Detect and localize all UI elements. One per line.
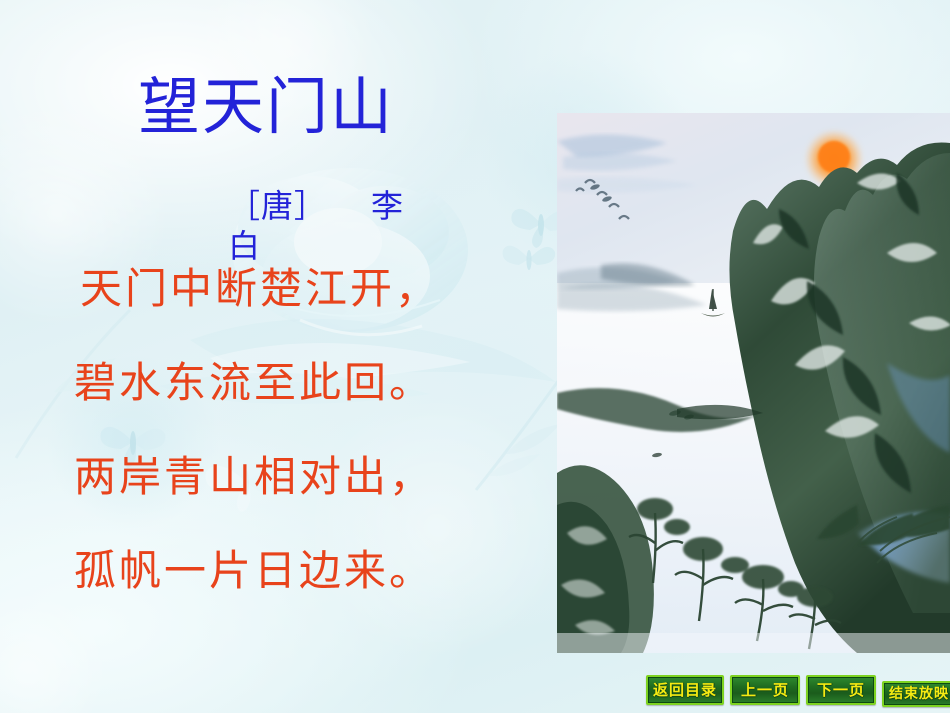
poem-body: 天门中断楚江开， 碧水东流至此回。 两岸青山相对出， 孤帆一片日边来。 bbox=[74, 268, 544, 592]
landscape-painting-image bbox=[557, 113, 950, 653]
author-name-part1: 李 bbox=[371, 187, 403, 225]
slide-canvas: 望天门山 ［唐］李白 天门中断楚江开， 碧水东流至此回。 两岸青山相对出， 孤帆… bbox=[0, 0, 950, 713]
next-page-button[interactable]: 下一页 bbox=[806, 675, 876, 705]
author-line: ［唐］李白 bbox=[228, 186, 494, 266]
poem-line: 碧水东流至此回。 bbox=[74, 362, 544, 404]
poem-line: 天门中断楚江开， bbox=[80, 268, 544, 310]
poem-line: 两岸青山相对出， bbox=[74, 456, 544, 498]
previous-page-button[interactable]: 上一页 bbox=[730, 675, 800, 705]
navigation-bar: 返回目录 上一页 下一页 结束放映 bbox=[646, 675, 950, 707]
poem-line: 孤帆一片日边来。 bbox=[74, 550, 544, 592]
author-dynasty: ［唐］ bbox=[228, 187, 327, 225]
author-name-part2: 白 bbox=[228, 227, 260, 265]
end-slideshow-button[interactable]: 结束放映 bbox=[882, 681, 950, 707]
page-title: 望天门山 bbox=[138, 74, 394, 139]
back-to-contents-button[interactable]: 返回目录 bbox=[646, 675, 724, 705]
